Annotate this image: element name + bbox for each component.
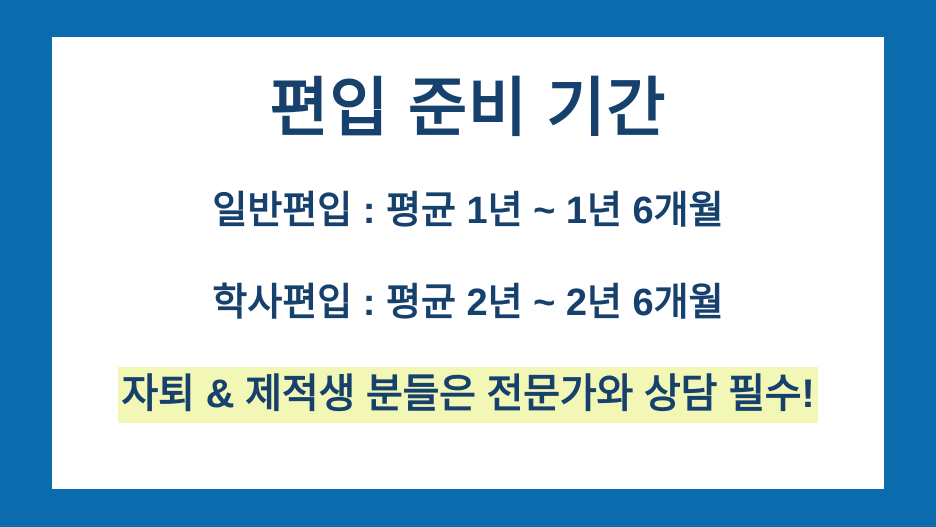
content-card: 편입 준비 기간 일반편입 : 평균 1년 ~ 1년 6개월 학사편입 : 평균… (52, 37, 884, 489)
slide-background: 편입 준비 기간 일반편입 : 평균 1년 ~ 1년 6개월 학사편입 : 평균… (0, 0, 936, 527)
highlight-row: 자퇴 & 제적생 분들은 전문가와 상담 필수! (52, 367, 884, 423)
bachelor-transfer-line: 학사편입 : 평균 2년 ~ 2년 6개월 (52, 281, 884, 327)
general-transfer-line: 일반편입 : 평균 1년 ~ 1년 6개월 (52, 189, 884, 235)
highlight-callout-text: 자퇴 & 제적생 분들은 전문가와 상담 필수! (118, 367, 819, 423)
slide-title: 편입 준비 기간 (52, 75, 884, 142)
